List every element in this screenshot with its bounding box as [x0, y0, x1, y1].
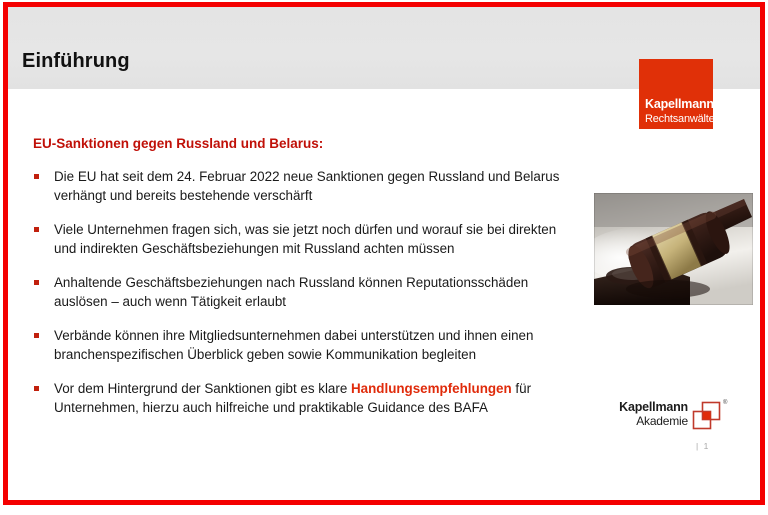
page-number: | 1 — [696, 441, 710, 451]
gavel-photo — [594, 193, 753, 305]
page-title: Einführung — [22, 50, 130, 73]
list-item: Verbände können ihre Mitgliedsunternehme… — [31, 327, 579, 364]
kapellmann-akademie-logo: Kapellmann Akademie ® — [596, 400, 726, 434]
slide-canvas: Einführung Kapellmann Rechtsanwälte EU-S… — [8, 7, 760, 500]
list-item-text: Die EU hat seit dem 24. Februar 2022 neu… — [54, 169, 559, 203]
text-run: Vor dem Hintergrund der Sanktionen gibt … — [54, 381, 351, 396]
overlapping-squares-icon — [692, 401, 722, 431]
akademie-logo-name: Kapellmann — [596, 400, 688, 414]
list-item: Vor dem Hintergrund der Sanktionen gibt … — [31, 380, 579, 417]
square-bullet-icon — [34, 280, 39, 285]
list-item-text: Viele Unternehmen fragen sich, was sie j… — [54, 222, 556, 256]
list-item: Anhaltende Geschäftsbeziehungen nach Rus… — [31, 274, 579, 311]
slide-content: EU-Sanktionen gegen Russland und Belarus… — [8, 89, 760, 500]
square-bullet-icon — [34, 386, 39, 391]
list-item-text: Verbände können ihre Mitgliedsunternehme… — [54, 328, 533, 362]
highlighted-term: Handlungsempfehlungen — [351, 381, 512, 396]
list-item-text: Vor dem Hintergrund der Sanktionen gibt … — [54, 381, 531, 415]
list-item-text: Anhaltende Geschäftsbeziehungen nach Rus… — [54, 275, 528, 309]
slide-frame: Einführung Kapellmann Rechtsanwälte EU-S… — [3, 2, 765, 505]
akademie-logo-subtitle: Akademie — [596, 414, 688, 428]
text-run: Verbände können ihre Mitgliedsunternehme… — [54, 328, 533, 362]
registered-trademark-icon: ® — [723, 400, 727, 406]
content-subheading: EU-Sanktionen gegen Russland und Belarus… — [33, 136, 323, 151]
square-bullet-icon — [34, 333, 39, 338]
list-item: Viele Unternehmen fragen sich, was sie j… — [31, 221, 579, 258]
text-run: Die EU hat seit dem 24. Februar 2022 neu… — [54, 169, 559, 203]
bullet-list: Die EU hat seit dem 24. Februar 2022 neu… — [31, 168, 579, 417]
square-bullet-icon — [34, 227, 39, 232]
list-item: Die EU hat seit dem 24. Februar 2022 neu… — [31, 168, 579, 205]
akademie-logo-text: Kapellmann Akademie — [596, 400, 688, 428]
text-run: Anhaltende Geschäftsbeziehungen nach Rus… — [54, 275, 528, 309]
square-bullet-icon — [34, 174, 39, 179]
text-run: Viele Unternehmen fragen sich, was sie j… — [54, 222, 556, 256]
